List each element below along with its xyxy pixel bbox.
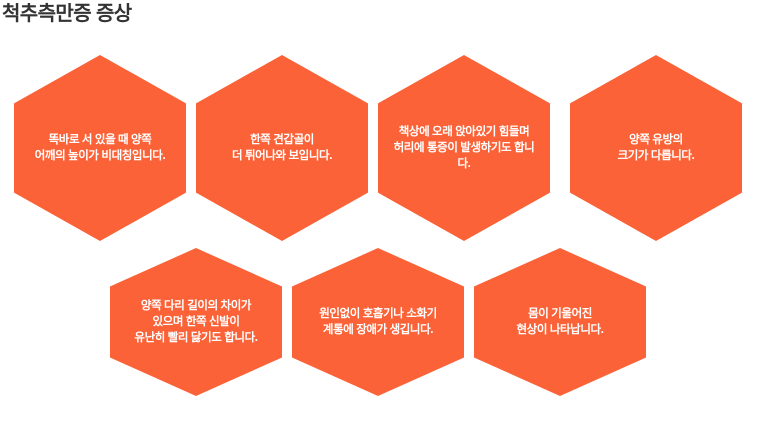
symptom-hexagon-5-label: 양쪽 다리 길이의 차이가 있으며 한쪽 신발이 유난히 빨리 닳기도 합니다. — [124, 298, 268, 346]
symptom-hexagon-6: 원인없이 호흡기나 소화기 계통에 장애가 생깁니다. — [292, 248, 464, 396]
symptom-hexagon-4-label: 양쪽 유방의 크기가 다릅니다. — [584, 132, 728, 164]
symptom-hexagon-2-label: 한쪽 견갑골이 더 튀어나와 보입니다. — [210, 132, 354, 164]
symptom-hexagon-3-label: 책상에 오래 앉아있기 힘들며 허리에 통증이 발생하기도 합니다. — [392, 124, 536, 172]
symptom-hexagon-5: 양쪽 다리 길이의 차이가 있으며 한쪽 신발이 유난히 빨리 닳기도 합니다. — [110, 248, 282, 396]
symptom-hexagon-1-label: 똑바로 서 있을 때 양쪽 어깨의 높이가 비대칭입니다. — [28, 132, 172, 164]
symptom-hexagon-7: 몸이 기울어진 현상이 나타납니다. — [474, 248, 646, 396]
symptom-hexagon-4: 양쪽 유방의 크기가 다릅니다. — [570, 55, 742, 241]
hexagon-diagram: 똑바로 서 있을 때 양쪽 어깨의 높이가 비대칭입니다. 한쪽 견갑골이 더 … — [0, 0, 760, 427]
symptom-hexagon-3: 책상에 오래 앉아있기 힘들며 허리에 통증이 발생하기도 합니다. — [378, 55, 550, 241]
symptom-hexagon-1: 똑바로 서 있을 때 양쪽 어깨의 높이가 비대칭입니다. — [14, 55, 186, 241]
symptom-hexagon-2: 한쪽 견갑골이 더 튀어나와 보입니다. — [196, 55, 368, 241]
symptom-hexagon-7-label: 몸이 기울어진 현상이 나타납니다. — [488, 306, 632, 338]
symptom-hexagon-6-label: 원인없이 호흡기나 소화기 계통에 장애가 생깁니다. — [306, 306, 450, 338]
